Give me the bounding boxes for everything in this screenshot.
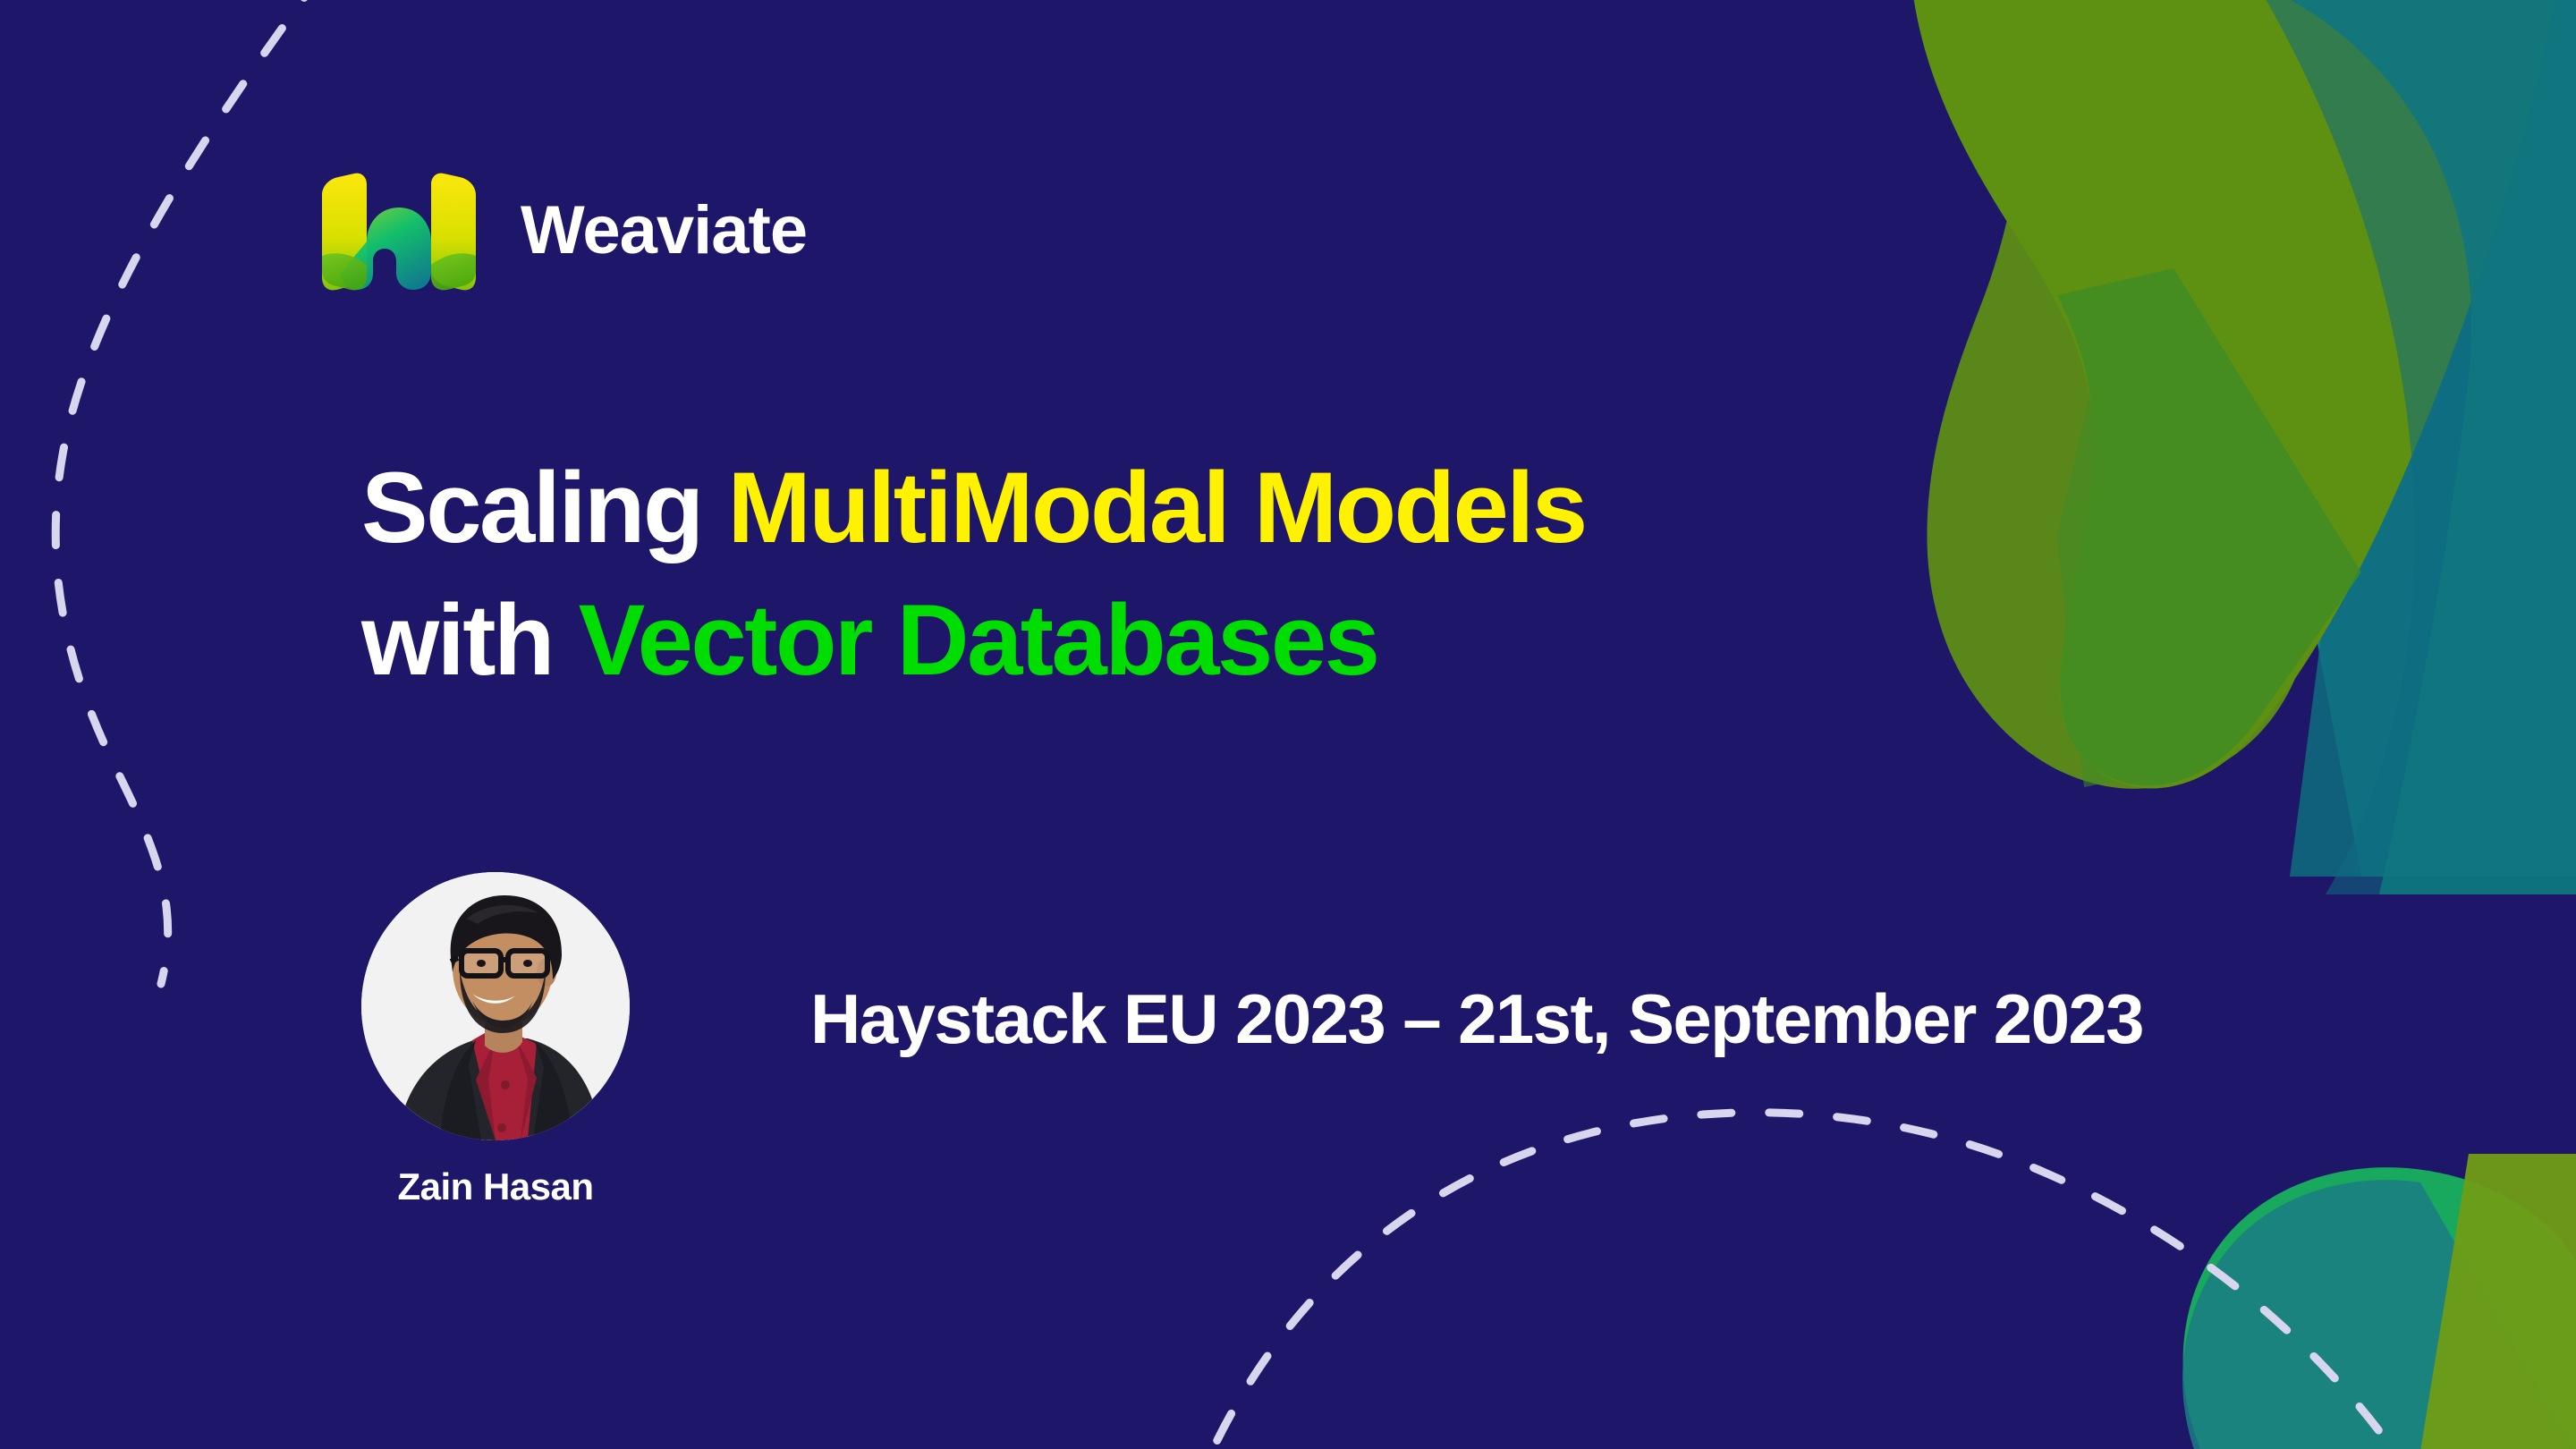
slide-title: Scaling MultiModal Models with Vector Da… [361,442,1586,707]
speaker-block: Zain Hasan [361,872,630,1208]
speaker-name: Zain Hasan [397,1165,593,1208]
title-line1-plain: Scaling [361,452,727,563]
title-line1-accent: MultiModal Models [727,452,1585,563]
brand-logo[interactable]: Weaviate [315,168,807,293]
title-line2-accent: Vector Databases [579,584,1378,696]
title-line2-plain: with [361,584,579,696]
slide-title-line-2: with Vector Databases [361,574,1586,707]
weaviate-w-logo-icon [315,168,483,293]
dashed-arc-left [55,0,322,984]
blob-top-right-detail [1911,0,2576,894]
avatar [361,872,630,1140]
slide-title-line-1: Scaling MultiModal Models [361,442,1586,574]
speaker-photo-icon [361,872,630,1140]
presentation-title-slide: Weaviate Scaling MultiModal Models with … [0,0,2576,1449]
brand-wordmark: Weaviate [521,197,807,265]
blob-bottom-right [2182,1154,2576,1449]
event-info: Haystack EU 2023 – 21st, September 2023 [810,984,2143,1054]
dashed-arc-bottom [1190,1113,2495,1449]
blob-top-right [1888,0,2576,877]
